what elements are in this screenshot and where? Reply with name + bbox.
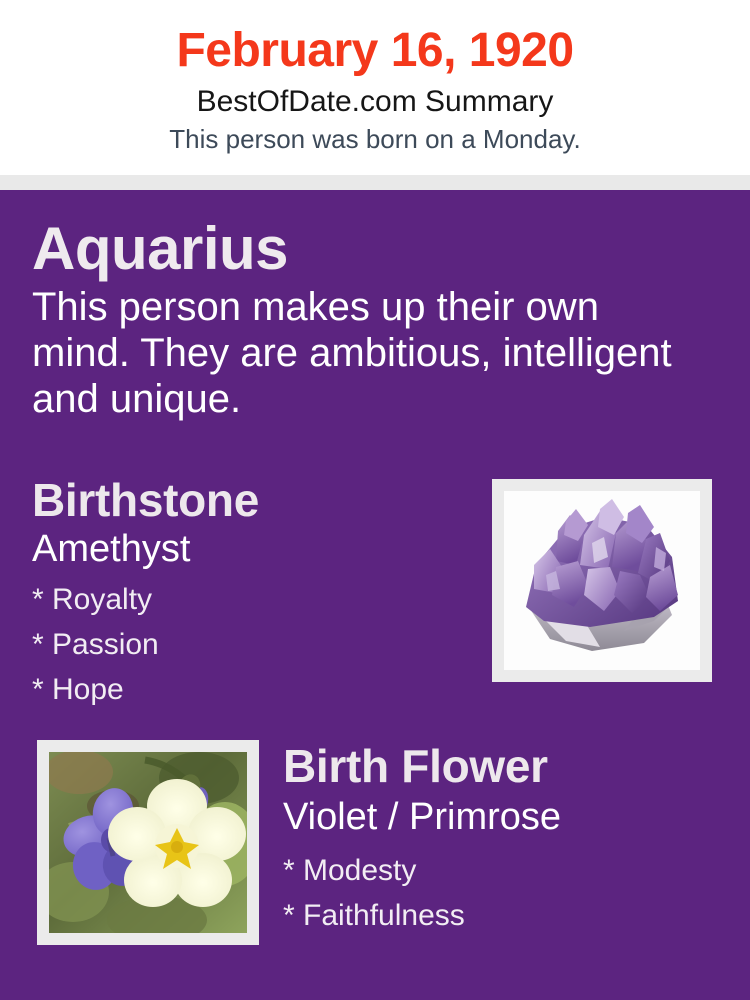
- birthstone-photo: [504, 491, 700, 670]
- list-item: * Modesty: [283, 848, 733, 893]
- birthstone-name: Amethyst: [32, 527, 462, 571]
- list-item: * Passion: [32, 622, 462, 667]
- page-title-date: February 16, 1920: [0, 0, 750, 80]
- list-item: * Faithfulness: [283, 893, 733, 938]
- amethyst-crystal-icon: [504, 491, 700, 670]
- birth-flower-photo: [49, 752, 247, 933]
- birth-flower-title: Birth Flower: [283, 738, 733, 794]
- header-divider: [0, 175, 750, 190]
- site-summary-label: BestOfDate.com Summary: [0, 80, 750, 120]
- birth-flower-photo-frame: [37, 740, 259, 945]
- zodiac-section: Aquarius This person makes up their own …: [32, 216, 692, 422]
- birthday-summary-card: February 16, 1920 BestOfDate.com Summary…: [0, 0, 750, 1000]
- birth-flower-section: Birth Flower Violet / Primrose * Modesty…: [283, 738, 733, 938]
- birthstone-title: Birthstone: [32, 473, 462, 527]
- violet-primrose-flower-icon: [49, 752, 247, 933]
- birthstone-section: Birthstone Amethyst * Royalty * Passion …: [32, 473, 462, 712]
- list-item: * Royalty: [32, 577, 462, 622]
- zodiac-sign-title: Aquarius: [32, 216, 692, 282]
- list-item: * Hope: [32, 667, 462, 712]
- birth-flower-trait-list: * Modesty * Faithfulness: [283, 840, 733, 938]
- birthstone-trait-list: * Royalty * Passion * Hope: [32, 571, 462, 712]
- birth-flower-name: Violet / Primrose: [283, 794, 733, 840]
- zodiac-description: This person makes up their own mind. The…: [32, 282, 692, 422]
- born-day-note: This person was born on a Monday.: [0, 120, 750, 155]
- header: February 16, 1920 BestOfDate.com Summary…: [0, 0, 750, 175]
- birthstone-photo-frame: [492, 479, 712, 682]
